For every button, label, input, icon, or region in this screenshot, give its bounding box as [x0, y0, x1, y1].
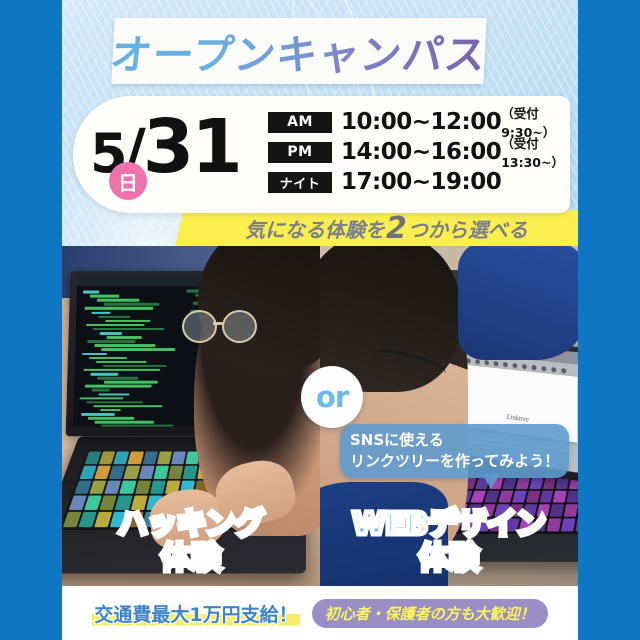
schedule-row-pm: PM 14:00~16:00 （受付13:30~）: [268, 138, 568, 166]
toolbar-icon: [484, 360, 489, 365]
poster-title: オープンキャンパス: [109, 18, 489, 84]
code-line: [93, 405, 162, 407]
course-label-webdesign: WEBデザイン 体験: [320, 508, 578, 576]
code-line: [84, 307, 153, 310]
eyeglasses-icon: [182, 310, 256, 340]
lens-left: [182, 310, 217, 343]
keycap: [171, 451, 186, 464]
schedule-tag-pm: PM: [268, 142, 332, 163]
code-line: [90, 295, 119, 298]
code-line: [86, 401, 143, 403]
toolbar-icon: [494, 361, 499, 366]
code-line: [82, 353, 107, 355]
schedule-tag-am: AM: [268, 112, 332, 133]
schedule-note-pm: （受付13:30~）: [501, 133, 568, 171]
toolbar-icon: [512, 363, 517, 368]
keycap: [512, 491, 527, 503]
code-line: [80, 397, 124, 399]
code-line: [97, 299, 140, 302]
code-line: [98, 315, 130, 318]
keycap: [120, 480, 137, 494]
code-line: [86, 324, 144, 327]
code-line: [83, 369, 160, 371]
poster: Linktree or SNSに使える リンクツリーを作ってみよう！ ハッキング…: [0, 0, 640, 640]
or-label: or: [316, 380, 348, 414]
code-line: [103, 365, 167, 367]
glasses-bridge: [213, 322, 223, 325]
date-day: 31: [143, 104, 240, 190]
frame-bar-left: [0, 0, 62, 640]
toolbar-icon: [551, 367, 556, 373]
day-of-week-label: 日: [118, 167, 138, 196]
code-line: [100, 409, 121, 411]
frame-bar-right: [578, 0, 640, 640]
schedule-time-pm: 14:00~16:00: [341, 139, 501, 165]
code-line: [83, 291, 99, 294]
course-suffix-webdesign: 体験: [320, 542, 578, 576]
schedule-tag-night: ナイト: [268, 172, 332, 193]
footer-subsidy-text: 交通費最大1万円支給！: [92, 600, 299, 627]
keycap: [539, 491, 553, 503]
code-line: [88, 417, 134, 419]
schedule-row-am: AM 10:00~12:00 （受付9:30~）: [268, 108, 568, 136]
code-line: [87, 340, 135, 342]
code-line: [90, 373, 118, 375]
keycap: [142, 451, 157, 464]
schedule-list: AM 10:00~12:00 （受付9:30~） PM 14:00~16:00 …: [268, 108, 568, 198]
keycap: [526, 491, 541, 503]
schedule-time-am: 10:00~12:00: [341, 109, 501, 135]
ribbon-text: 気になる体験を 2 つから選べる: [245, 212, 565, 244]
ribbon-count: 2: [385, 211, 408, 246]
code-line: [101, 348, 175, 350]
course-name-webdesign: WEBデザイン: [320, 508, 578, 542]
keycap: [498, 491, 513, 503]
footer-content: 交通費最大1万円支給！ 初心者・保護者の方も大歓迎！: [62, 586, 578, 640]
keycap: [183, 466, 198, 479]
keycap: [553, 491, 567, 503]
sheet-logo: Linktree: [507, 413, 529, 424]
keycap: [157, 451, 172, 464]
person-background-shirt: [458, 246, 578, 360]
code-line: [104, 303, 160, 306]
or-badge: or: [301, 366, 363, 428]
course-name-hacking: ハッキング: [62, 508, 320, 542]
course-suffix-hacking: 体験: [62, 542, 320, 576]
lens-right: [222, 310, 257, 343]
code-line: [97, 377, 138, 379]
keycap: [516, 478, 530, 489]
keycap: [139, 466, 155, 479]
code-line: [81, 413, 115, 415]
keycap: [150, 480, 166, 494]
toolbar-icon: [561, 368, 566, 374]
date-block: 5/31 日: [82, 100, 272, 210]
toolbar-icon: [503, 362, 508, 367]
schedule-time-night: 17:00~19:00: [341, 169, 501, 195]
speech-bubble-tail: [482, 474, 500, 489]
toolbar-icon: [541, 366, 546, 372]
footer-strip: 交通費最大1万円支給！ 初心者・保護者の方も大歓迎！: [62, 586, 578, 640]
keycap: [529, 478, 543, 489]
schedule-row-night: ナイト 17:00~19:00: [268, 168, 568, 196]
ribbon-text-pre: 気になる体験を: [245, 214, 385, 243]
code-line: [94, 344, 155, 346]
keycap: [124, 466, 140, 479]
keycap: [567, 491, 578, 503]
code-line: [104, 381, 158, 383]
ribbon-text-post: つから選べる: [408, 214, 528, 243]
keycap: [542, 478, 556, 489]
toolbar-icon: [475, 359, 480, 364]
code-line: [89, 357, 127, 359]
keycap: [168, 466, 183, 479]
code-line: [101, 425, 173, 427]
footer-welcome-text: 初心者・保護者の方も大歓迎！: [325, 605, 535, 623]
code-line: [99, 393, 130, 395]
code-line: [91, 311, 110, 314]
code-line: [100, 332, 122, 335]
bubble-line-1: SNSに使える: [350, 430, 559, 451]
code-line: [105, 320, 150, 323]
keycap: [135, 480, 151, 494]
code-line: [92, 389, 110, 391]
code-line: [95, 421, 154, 423]
code-line: [93, 328, 164, 331]
toolbar-icon: [522, 364, 527, 370]
code-line: [96, 361, 147, 363]
day-of-week-badge: 日: [109, 162, 147, 200]
footer-welcome-badge: 初心者・保護者の方も大歓迎！: [312, 599, 548, 628]
keycap: [128, 451, 144, 464]
code-line: [85, 385, 152, 387]
toolbar-icon: [532, 365, 537, 371]
bubble-line-2: リンクツリーを作ってみよう！: [350, 451, 559, 472]
code-line: [107, 336, 142, 339]
keycap: [502, 478, 517, 489]
course-label-hacking: ハッキング 体験: [62, 508, 320, 576]
keycap: [153, 466, 169, 479]
speech-bubble-webdesign: SNSに使える リンクツリーを作ってみよう！: [340, 424, 569, 478]
